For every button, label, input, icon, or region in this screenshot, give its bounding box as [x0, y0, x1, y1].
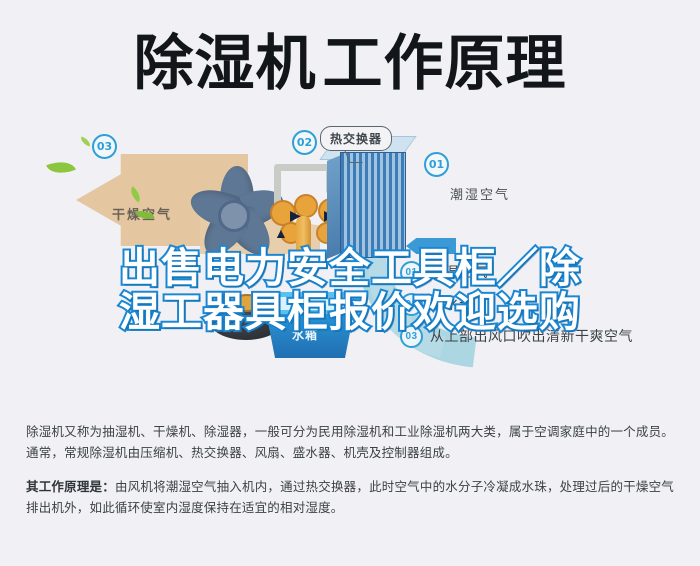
- flow-arrow-icon: ▲: [274, 226, 288, 240]
- page-title-part2: 工作原理: [323, 29, 567, 99]
- step-item-03: 03 从上部出风口吹出清新干爽空气: [400, 320, 696, 352]
- fan-hub-icon: [218, 200, 250, 232]
- illustration-badge-01: 01: [424, 152, 449, 177]
- pipe-segment: [274, 164, 334, 171]
- paragraph-2: 其工作原理是：由风机将潮湿空气抽入机内，通过热交换器，此时空气中的水分子冷凝成水…: [26, 477, 674, 519]
- heat-exchanger-callout: 热交换器: [320, 126, 392, 151]
- water-tank-label: 水箱: [292, 326, 318, 343]
- step-text-01: 进湿空气: [430, 262, 488, 282]
- illustration-badge-02: 02: [292, 130, 317, 155]
- heat-exchanger-icon: [340, 146, 412, 262]
- step-badge-02: 02: [400, 293, 423, 316]
- heat-exchanger-fins: [340, 152, 406, 258]
- paragraph-2-text: 由风机将潮湿空气抽入机内，通过热交换器，此时空气中的水分子冷凝成水珠，处理过后的…: [26, 480, 674, 515]
- water-tank-opening: [269, 297, 350, 310]
- humid-air-label: 潮湿空气: [450, 184, 510, 203]
- step-badge-03: 03: [400, 325, 423, 348]
- paragraph-2-lead: 其工作原理是：: [26, 480, 115, 494]
- humid-air-inlet-arrow-icon: [406, 238, 456, 254]
- step-item-01: 01 进湿空气: [400, 256, 696, 288]
- leaf-icon: [79, 136, 92, 146]
- fan-icon: [178, 160, 282, 264]
- water-tank-icon: 水箱: [258, 292, 362, 360]
- step-badge-01: 01: [400, 261, 423, 284]
- step-caption-list: 01 进湿空气 02 成水珠 03 从上部出风口吹出清新干爽空气: [400, 256, 696, 352]
- body-copy-section: 除湿机又称为抽湿机、干燥机、除湿器，一般可分为民用除湿机和工业除湿机两大类，属于…: [0, 404, 700, 566]
- step-item-02: 02 成水珠: [400, 288, 696, 320]
- page-title: 除湿机工作原理: [134, 34, 567, 94]
- step-text-03: 从上部出风口吹出清新干爽空气: [430, 326, 633, 346]
- heat-exchanger-side-panel: [327, 155, 341, 259]
- leaf-icon: [46, 156, 76, 180]
- illustration-badge-03: 03: [92, 134, 117, 159]
- page-title-part1: 除湿机: [134, 29, 317, 99]
- flow-arrow-icon: ▶: [290, 208, 301, 222]
- poster-root: 除湿机工作原理 干燥空气: [0, 0, 700, 566]
- step-text-02: 成水珠: [430, 294, 474, 314]
- header-band: 除湿机工作原理: [0, 0, 700, 128]
- paragraph-1: 除湿机又称为抽湿机、干燥机、除湿器，一般可分为民用除湿机和工业除湿机两大类，属于…: [26, 422, 674, 464]
